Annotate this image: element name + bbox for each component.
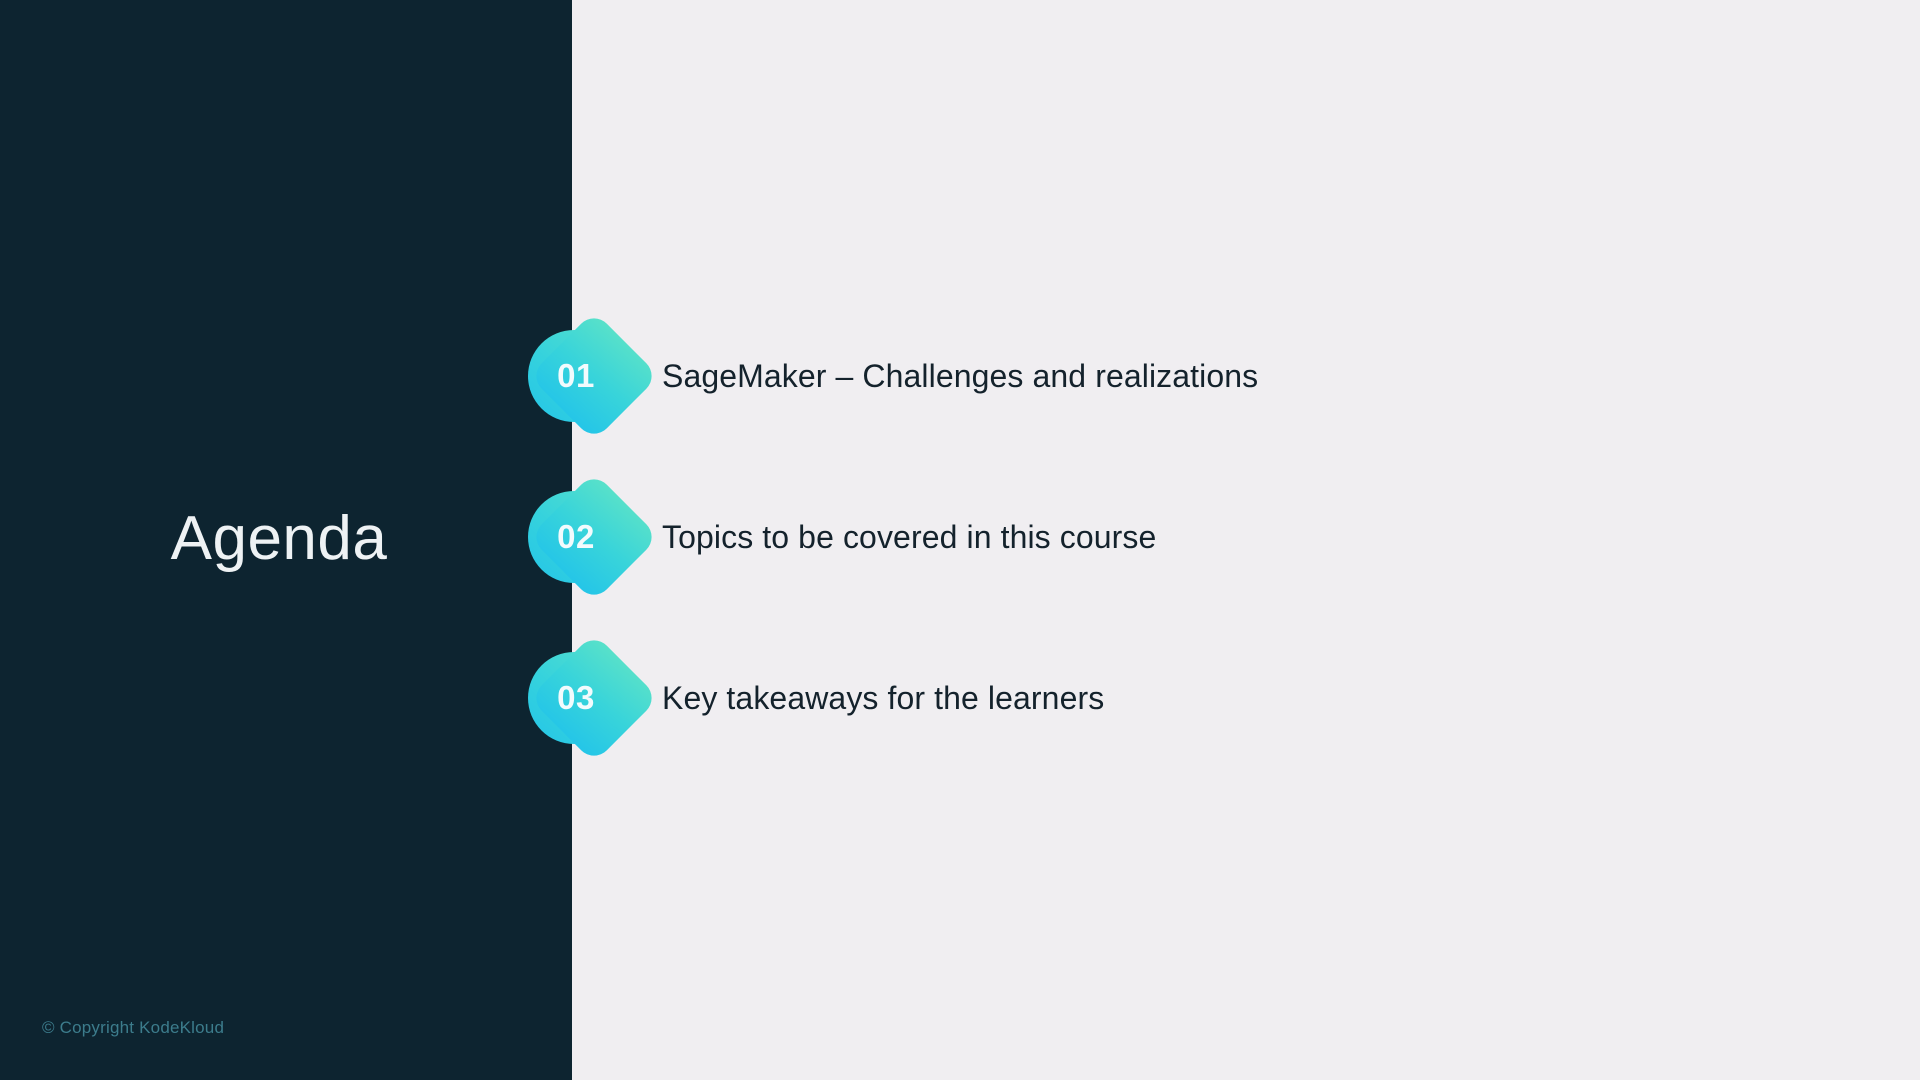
agenda-item-label: Key takeaways for the learners (662, 680, 1104, 717)
chevron-badge-icon: 03 (528, 632, 624, 764)
agenda-item[interactable]: 03 Key takeaways for the learners (528, 632, 1104, 764)
chevron-badge-icon: 01 (528, 310, 624, 442)
agenda-list: 01 SageMaker – Challenges and realizatio… (0, 0, 1920, 1080)
agenda-item-number: 02 (528, 491, 620, 583)
agenda-item-number: 03 (528, 652, 620, 744)
agenda-item[interactable]: 01 SageMaker – Challenges and realizatio… (528, 310, 1258, 442)
agenda-item[interactable]: 02 Topics to be covered in this course (528, 471, 1156, 603)
agenda-slide: Agenda © Copyright KodeKloud 01 SageMake… (0, 0, 1920, 1080)
agenda-item-number: 01 (528, 330, 620, 422)
chevron-badge-icon: 02 (528, 471, 624, 603)
agenda-item-label: Topics to be covered in this course (662, 519, 1156, 556)
agenda-item-label: SageMaker – Challenges and realizations (662, 358, 1258, 395)
